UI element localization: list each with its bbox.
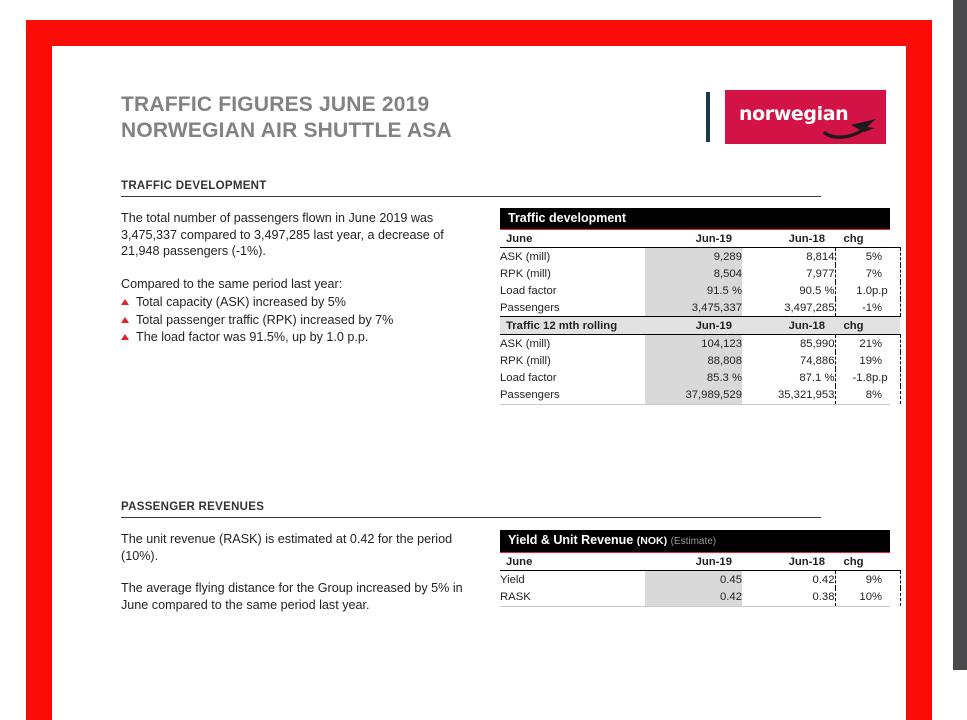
table-traffic-development: June Jun-19 Jun-18 chg ASK (mill) 9,289 … (500, 230, 901, 404)
table-title-estimate-note: (Estimate) (671, 536, 717, 547)
list-item-label: The load factor was 91.5%, up by 1.0 p.p… (136, 330, 368, 344)
triangle-up-icon (121, 334, 129, 340)
table-row: Yield 0.45 0.42 9 % (500, 571, 900, 589)
table-title-currency: (NOK) (637, 535, 667, 547)
subsection-col-previous: Jun-18 (742, 317, 835, 335)
table-row: Load factor 85.3 % 87.1 % -1.8 p.p (500, 369, 900, 386)
section-heading-traffic-development: TRAFFIC DEVELOPMENT (121, 180, 821, 197)
revenues-paragraph-2: The average flying distance for the Grou… (121, 580, 476, 613)
table-row: ASK (mill) 104,123 85,990 21 % (500, 335, 900, 353)
row-change: 1.0 (835, 282, 872, 299)
table-subsection-header-row: Traffic 12 mth rolling Jun-19 Jun-18 chg (500, 317, 900, 335)
table-bottom-rule (500, 606, 890, 607)
row-previous: 90.5 % (742, 282, 835, 299)
subsection-label: Traffic 12 mth rolling (500, 317, 645, 335)
row-previous: 7,977 (742, 265, 835, 282)
table-yield-unit-revenue: June Jun-19 Jun-18 chg Yield 0.45 0.42 (500, 553, 901, 606)
row-current: 3,475,337 (645, 299, 742, 317)
col-header-change-unit (872, 230, 900, 248)
norwegian-logo: norwegian (706, 90, 886, 144)
page-title: TRAFFIC FIGURES JUNE 2019 NORWEGIAN AIR … (121, 92, 601, 144)
row-previous: 87.1 % (742, 369, 835, 386)
table-row: Passengers 3,475,337 3,497,285 -1 % (500, 299, 900, 317)
table-column-header-row: June Jun-19 Jun-18 chg (500, 230, 900, 248)
airplane-swoosh-icon (823, 114, 879, 140)
row-change-unit: % (872, 265, 900, 282)
row-change: 5 (835, 248, 872, 266)
table-row: RPK (mill) 88,808 74,886 19 % (500, 352, 900, 369)
table-column-header-row: June Jun-19 Jun-18 chg (500, 553, 900, 571)
row-change: 10 (835, 588, 872, 606)
subsection-col-change-unit (872, 317, 900, 335)
row-previous: 0.42 (742, 571, 835, 589)
traffic-paragraph: The total number of passengers flown in … (121, 210, 476, 260)
row-change: -1 (835, 299, 872, 317)
traffic-text-column: The total number of passengers flown in … (121, 210, 476, 347)
row-label: ASK (mill) (500, 248, 645, 266)
row-current: 85.3 % (645, 369, 742, 386)
row-change-unit: p.p (872, 369, 900, 386)
row-label: RASK (500, 588, 645, 606)
row-label: Passengers (500, 299, 645, 317)
table-row: RPK (mill) 8,504 7,977 7 % (500, 265, 900, 282)
revenues-text-column: The unit revenue (RASK) is estimated at … (121, 531, 476, 613)
traffic-bullet-list: Total capacity (ASK) increased by 5% Tot… (121, 294, 476, 346)
row-label: Load factor (500, 369, 645, 386)
page-title-line-1: TRAFFIC FIGURES JUNE 2019 (121, 93, 429, 116)
row-change: 21 (835, 335, 872, 353)
row-previous: 85,990 (742, 335, 835, 353)
row-change: -1.8 (835, 369, 872, 386)
row-previous: 74,886 (742, 352, 835, 369)
row-previous: 3,497,285 (742, 299, 835, 317)
revenues-paragraph-1: The unit revenue (RASK) is estimated at … (121, 531, 476, 564)
row-label: ASK (mill) (500, 335, 645, 353)
row-previous: 35,321,953 (742, 386, 835, 404)
page-title-line-2: NORWEGIAN AIR SHUTTLE ASA (121, 118, 601, 144)
row-change-unit: % (872, 248, 900, 266)
row-label: RPK (mill) (500, 265, 645, 282)
page-sheet: TRAFFIC FIGURES JUNE 2019 NORWEGIAN AIR … (52, 46, 906, 720)
table-title-main: Yield & Unit Revenue (508, 533, 633, 547)
row-change: 8 (835, 386, 872, 404)
table-title-traffic-development: Traffic development (500, 208, 890, 230)
row-change-unit: p.p (872, 282, 900, 299)
triangle-up-icon (121, 317, 129, 323)
col-header-change-unit (872, 553, 900, 571)
col-header-change: chg (835, 230, 872, 248)
row-change-unit: % (872, 571, 900, 589)
row-current: 104,123 (645, 335, 742, 353)
subsection-col-change: chg (835, 317, 872, 335)
table-bottom-rule (500, 404, 890, 405)
list-item: The load factor was 91.5%, up by 1.0 p.p… (121, 329, 476, 346)
row-current: 91.5 % (645, 282, 742, 299)
row-change: 9 (835, 571, 872, 589)
col-header-previous: Jun-18 (742, 230, 835, 248)
row-change-unit: % (872, 335, 900, 353)
col-header-current: Jun-19 (645, 553, 742, 571)
red-page-border: TRAFFIC FIGURES JUNE 2019 NORWEGIAN AIR … (26, 20, 932, 720)
col-header-current: Jun-19 (645, 230, 742, 248)
table-row: ASK (mill) 9,289 8,814 5 % (500, 248, 900, 266)
row-previous: 0.38 (742, 588, 835, 606)
table-row: Passengers 37,989,529 35,321,953 8 % (500, 386, 900, 404)
list-item-label: Total passenger traffic (RPK) increased … (136, 313, 393, 327)
row-current: 37,989,529 (645, 386, 742, 404)
triangle-up-icon (121, 299, 129, 305)
col-header-previous: Jun-18 (742, 553, 835, 571)
row-previous: 8,814 (742, 248, 835, 266)
list-item-label: Total capacity (ASK) increased by 5% (136, 295, 346, 309)
row-current: 88,808 (645, 352, 742, 369)
traffic-bullets-intro: Compared to the same period last year: (121, 276, 476, 293)
logo-accent-bar (706, 92, 710, 142)
col-header-change: chg (835, 553, 872, 571)
row-label: Yield (500, 571, 645, 589)
section-heading-passenger-revenues: PASSENGER REVENUES (121, 501, 821, 518)
traffic-development-table: Traffic development June Jun-19 Jun-18 c… (500, 208, 890, 405)
document-content: TRAFFIC FIGURES JUNE 2019 NORWEGIAN AIR … (52, 46, 906, 690)
row-current: 8,504 (645, 265, 742, 282)
row-current: 0.45 (645, 571, 742, 589)
row-change: 7 (835, 265, 872, 282)
table-row: RASK 0.42 0.38 10 % (500, 588, 900, 606)
row-label: RPK (mill) (500, 352, 645, 369)
subsection-col-current: Jun-19 (645, 317, 742, 335)
row-current: 9,289 (645, 248, 742, 266)
row-label: Passengers (500, 386, 645, 404)
row-current: 0.42 (645, 588, 742, 606)
row-change-unit: % (872, 588, 900, 606)
yield-unit-revenue-table: Yield & Unit Revenue (NOK) (Estimate) Ju… (500, 530, 890, 607)
col-header-period: June (500, 230, 645, 248)
row-label: Load factor (500, 282, 645, 299)
row-change: 19 (835, 352, 872, 369)
row-change-unit: % (872, 386, 900, 404)
row-change-unit: % (872, 352, 900, 369)
table-row: Load factor 91.5 % 90.5 % 1.0 p.p (500, 282, 900, 299)
list-item: Total capacity (ASK) increased by 5% (121, 294, 476, 311)
list-item: Total passenger traffic (RPK) increased … (121, 312, 476, 329)
logo-red-box: norwegian (725, 90, 886, 144)
page-scrollbar[interactable] (953, 0, 967, 670)
row-change-unit: % (872, 299, 900, 317)
col-header-period: June (500, 553, 645, 571)
table-title-yield-unit-revenue: Yield & Unit Revenue (NOK) (Estimate) (500, 530, 890, 553)
